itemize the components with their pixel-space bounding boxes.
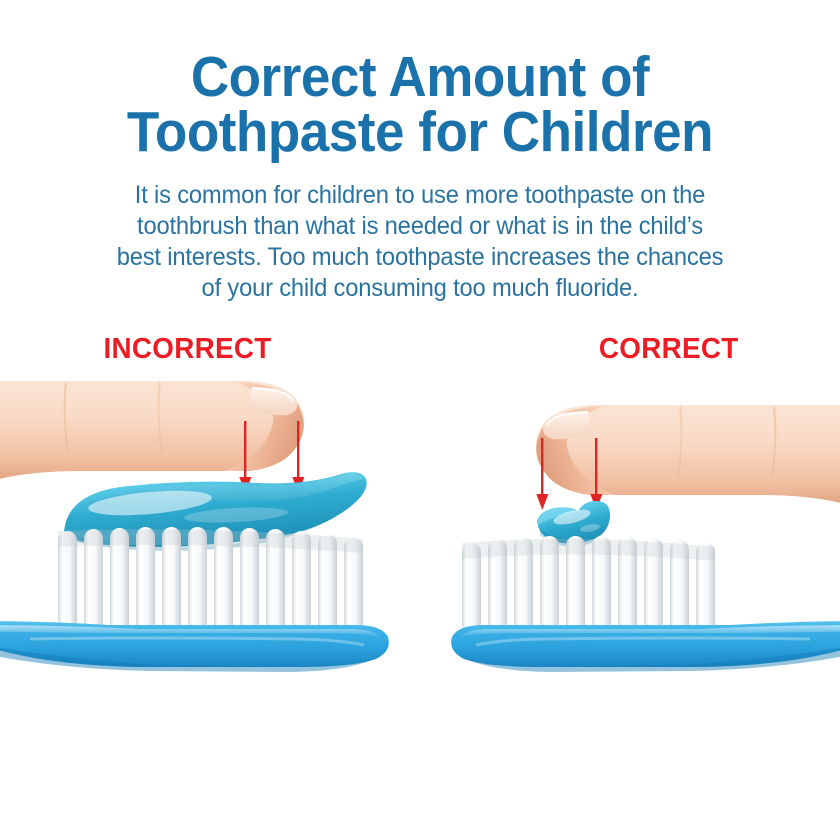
body-line-3: best interests. Too much toothpaste incr… <box>78 242 762 273</box>
finger-illustration <box>536 405 840 513</box>
toothbrush-bristles <box>462 536 715 633</box>
body-line-4: of your child consuming too much fluorid… <box>78 273 762 304</box>
body-line-2: toothbrush than what is needed or what i… <box>78 211 762 242</box>
body-paragraph: It is common for children to use more to… <box>60 180 780 304</box>
illustration-incorrect <box>0 375 420 685</box>
finger-illustration <box>0 381 304 489</box>
label-incorrect: INCORRECT <box>104 333 272 365</box>
body-line-1: It is common for children to use more to… <box>78 180 762 211</box>
infographic-poster: Correct Amount of Toothpaste for Childre… <box>0 0 840 840</box>
toothbrush-handle <box>451 621 840 672</box>
label-correct: CORRECT <box>599 333 739 365</box>
title-line-1: Correct Amount of <box>29 50 810 105</box>
page-title: Correct Amount of Toothpaste for Childre… <box>0 50 840 160</box>
toothbrush-bristles <box>58 527 376 633</box>
illustration-correct <box>420 375 840 685</box>
toothbrush-handle <box>0 621 389 672</box>
title-line-2: Toothpaste for Children <box>29 105 810 160</box>
